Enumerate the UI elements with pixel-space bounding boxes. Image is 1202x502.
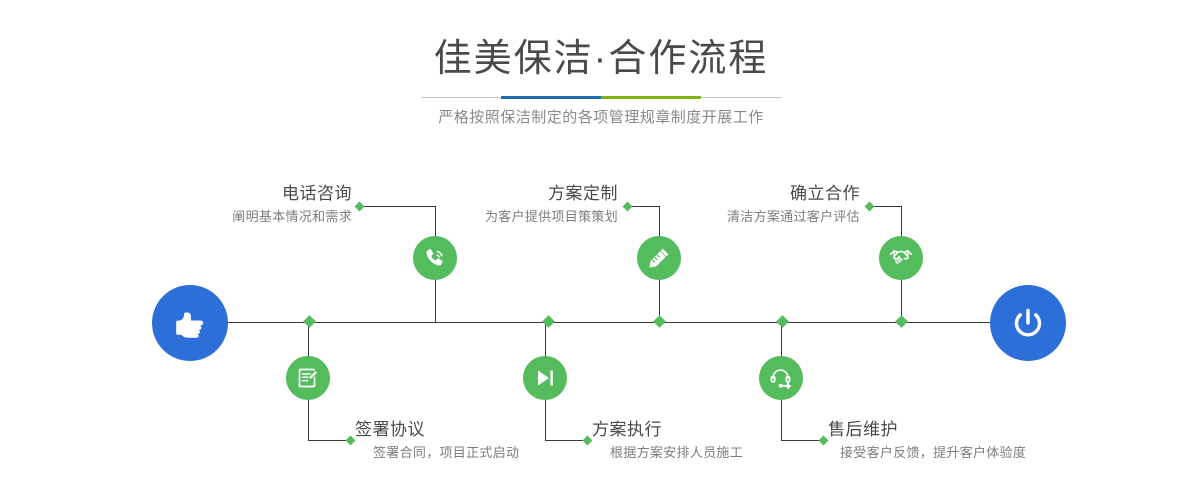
pencil-ruler-icon	[646, 245, 672, 271]
document-edit-icon	[295, 365, 321, 391]
step-icon-6	[759, 356, 803, 400]
step-label-1: 电话咨询 阐明基本情况和需求	[80, 182, 352, 228]
connector-arm-step-6	[781, 440, 823, 441]
step-icon-1	[413, 236, 457, 280]
pointing-hand-icon	[170, 303, 210, 343]
step-title-5: 确立合作	[570, 182, 860, 206]
page-title: 佳美保洁·合作流程	[0, 36, 1202, 82]
step-title-1: 电话咨询	[80, 182, 352, 206]
step-desc-5: 清洁方案通过客户评估	[570, 206, 860, 228]
title-divider	[421, 96, 781, 99]
step-icon-3	[637, 236, 681, 280]
axis-marker-step-4	[776, 315, 789, 328]
connector-arm-step-2	[308, 440, 350, 441]
process-flow-diagram: 电话咨询 阐明基本情况和需求 签署协议 签署合同，项目正式启动	[0, 150, 1202, 502]
axis-marker-step-5	[895, 315, 908, 328]
label-marker-step-5	[865, 202, 875, 212]
step-desc-1: 阐明基本情况和需求	[80, 206, 352, 228]
step-icon-4	[523, 356, 567, 400]
connector-arm-step-1	[360, 206, 436, 207]
handshake-icon	[888, 245, 914, 271]
step-icon-5	[879, 236, 923, 280]
step-title-6: 售后维护	[828, 418, 1158, 442]
connector-arm-step-4	[545, 440, 587, 441]
page-subtitle: 严格按照保洁制定的各项管理规章制度开展工作	[0, 106, 1202, 130]
label-marker-step-2	[346, 436, 356, 446]
phone-call-icon	[422, 245, 448, 271]
step-icon-2	[286, 356, 330, 400]
step-desc-6: 接受客户反馈，提升客户体验度	[840, 442, 1158, 464]
step-label-6: 售后维护 接受客户反馈，提升客户体验度	[828, 418, 1158, 464]
axis-marker-step-1	[303, 315, 316, 328]
customer-service-icon	[768, 365, 794, 391]
play-skip-icon	[532, 365, 558, 391]
divider-green-segment	[601, 96, 701, 99]
timeline-axis	[160, 322, 1042, 323]
power-icon	[1008, 303, 1048, 343]
flow-start-endpoint	[152, 285, 228, 361]
axis-marker-step-3	[653, 315, 666, 328]
flow-end-endpoint	[990, 285, 1066, 361]
page-header: 佳美保洁·合作流程 严格按照保洁制定的各项管理规章制度开展工作	[0, 0, 1202, 150]
step-label-5: 确立合作 清洁方案通过客户评估	[570, 182, 860, 228]
divider-blue-segment	[501, 96, 601, 99]
